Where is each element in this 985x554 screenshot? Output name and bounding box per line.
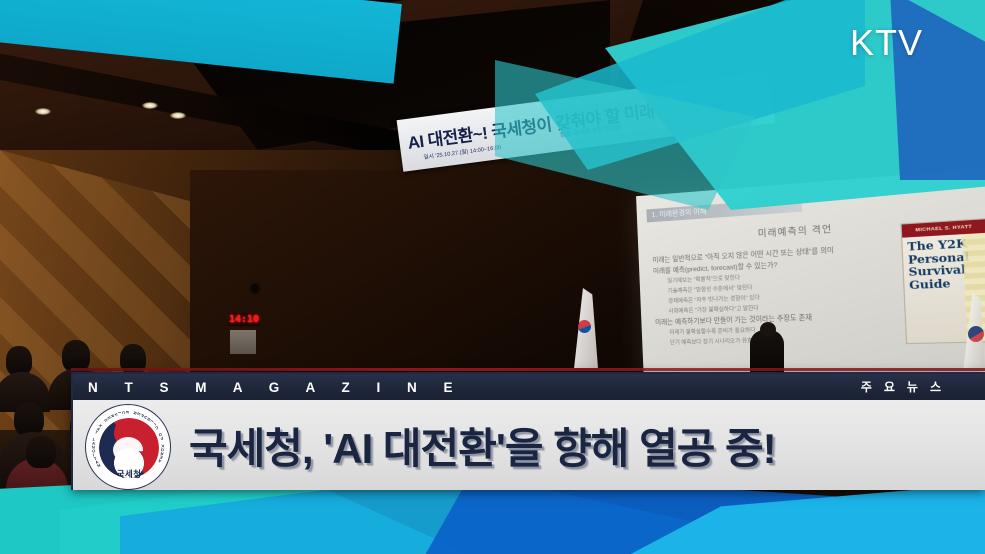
broadcast-frame: 14:10 AI 대전환~! 국세청이 갖춰야 할 미래역량과 일시 '25.1… — [0, 0, 985, 554]
korean-flag-taegeuk-icon — [578, 320, 591, 333]
ktv-channel-logo: KTV — [850, 22, 923, 64]
program-brand-title: N T S M A G A Z I N E — [73, 380, 464, 395]
lower-third-topbar: N T S M A G A Z I N E 주요뉴스 — [73, 374, 985, 400]
slide-title: 미래예측의 격언 — [757, 221, 832, 239]
stage-light — [142, 102, 158, 109]
stage-light — [35, 108, 51, 115]
banner-red-rule — [71, 368, 985, 371]
nts-emblem-label: 국세청 — [86, 468, 172, 480]
nts-emblem: NATIONAL TAX SERVICE REPUBLIC OF KOREA 국… — [85, 404, 171, 490]
presenter-head — [760, 322, 776, 337]
news-headline: 국세청, 'AI 대전환'을 향해 열공 중! — [189, 415, 776, 476]
wall-clock: 14:10 — [228, 313, 260, 326]
stage-light — [170, 112, 186, 119]
wall-speaker — [251, 284, 259, 293]
lower-third-body: 국세청, 'AI 대전환'을 향해 열공 중! — [73, 400, 985, 490]
news-section-label: 주요뉴스 — [861, 378, 953, 395]
bottom-graphic-band — [0, 482, 985, 554]
organization-flag-emblem-icon — [968, 326, 984, 342]
lower-third-banner: N T S M A G A Z I N E 주요뉴스 국세청, 'AI 대전환'… — [71, 372, 985, 490]
